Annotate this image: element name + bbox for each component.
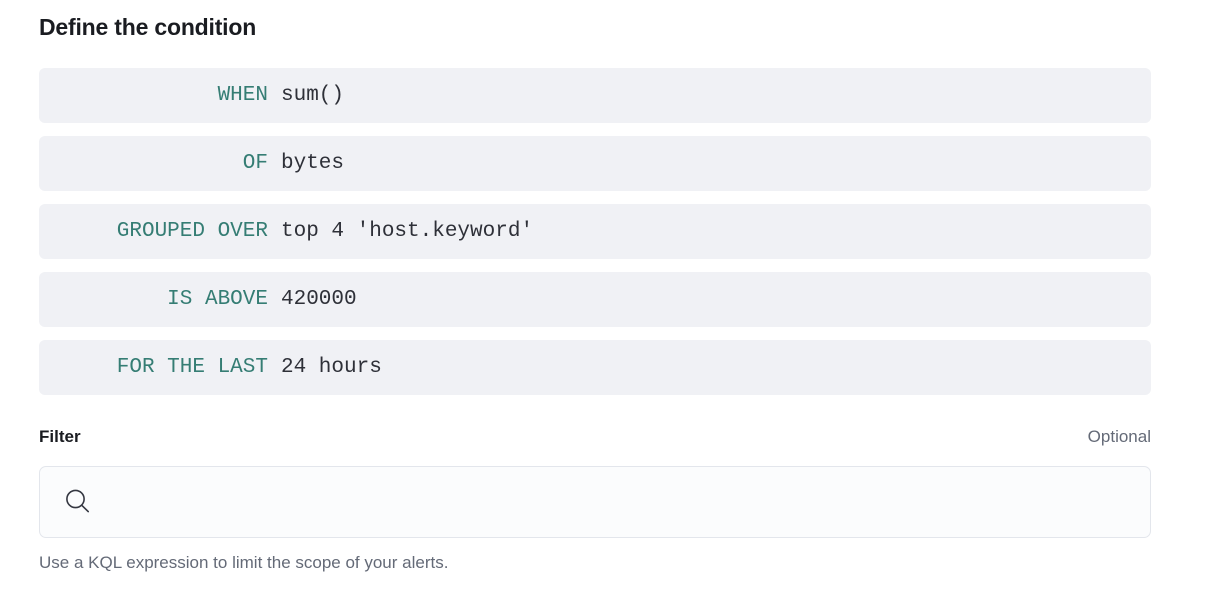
filter-optional-badge: Optional [1088,425,1151,449]
condition-expression-list: WHEN sum() OF bytes GROUPED OVER top 4 '… [39,68,1151,408]
expression-value: top 4 'host.keyword' [281,221,533,242]
expression-value: 24 hours [281,357,382,378]
expression-keyword: OF [39,153,268,174]
filter-input[interactable] [102,482,1132,522]
filter-section: Filter Optional Use a KQL expression to … [39,425,1151,575]
define-condition-panel: Define the condition WHEN sum() OF bytes… [0,0,1207,605]
filter-help-text: Use a KQL expression to limit the scope … [39,551,1151,575]
expression-keyword: WHEN [39,85,268,106]
expression-row-for-the-last[interactable]: FOR THE LAST 24 hours [39,340,1151,395]
filter-input-container[interactable] [39,466,1151,538]
filter-label-row: Filter Optional [39,425,1151,449]
page-title: Define the condition [39,11,256,43]
expression-row-grouped-over[interactable]: GROUPED OVER top 4 'host.keyword' [39,204,1151,259]
expression-value: bytes [281,153,344,174]
expression-keyword: IS ABOVE [39,289,268,310]
expression-value: 420000 [281,289,357,310]
expression-row-when[interactable]: WHEN sum() [39,68,1151,123]
expression-keyword: FOR THE LAST [39,357,268,378]
filter-label: Filter [39,425,81,449]
search-icon [62,486,94,518]
expression-value: sum() [281,85,344,106]
expression-row-of[interactable]: OF bytes [39,136,1151,191]
expression-row-is-above[interactable]: IS ABOVE 420000 [39,272,1151,327]
expression-keyword: GROUPED OVER [39,221,268,242]
